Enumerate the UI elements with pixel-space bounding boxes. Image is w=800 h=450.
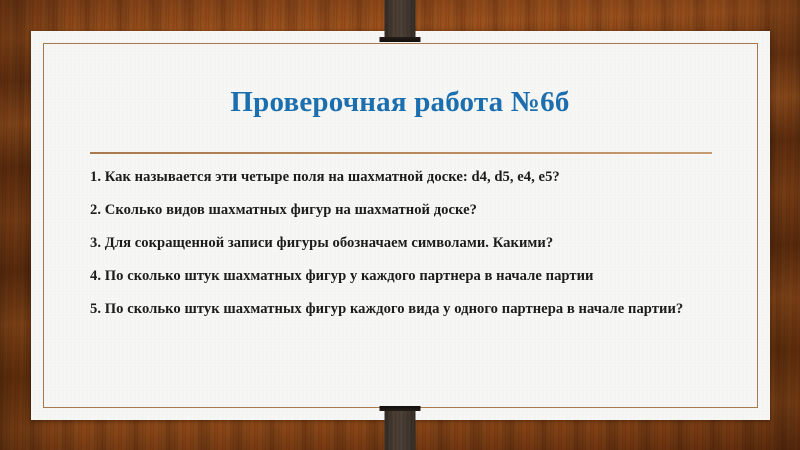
- list-item: 3. Для сокращенной записи фигуры обознач…: [90, 234, 710, 253]
- list-item: 1. Как называется эти четыре поля на шах…: [90, 168, 710, 187]
- title-divider: [90, 152, 712, 154]
- page-title: Проверочная работа №6б: [0, 86, 800, 118]
- top-clip-foot: [380, 37, 421, 42]
- presentation-slide: Проверочная работа №6б 1. Как называется…: [0, 0, 800, 450]
- list-item: 4. По сколько штук шахматных фигур у каж…: [90, 267, 710, 286]
- question-list: 1. Как называется эти четыре поля на шах…: [90, 168, 710, 319]
- list-item: 2. Сколько видов шахматных фигур на шахм…: [90, 201, 710, 220]
- list-item: 5. По сколько штук шахматных фигур каждо…: [90, 300, 710, 319]
- bottom-clip-icon: [385, 406, 416, 450]
- top-clip-icon: [385, 0, 416, 42]
- slide-content: Проверочная работа №6б 1. Как называется…: [0, 0, 800, 450]
- bottom-clip-foot: [380, 406, 421, 411]
